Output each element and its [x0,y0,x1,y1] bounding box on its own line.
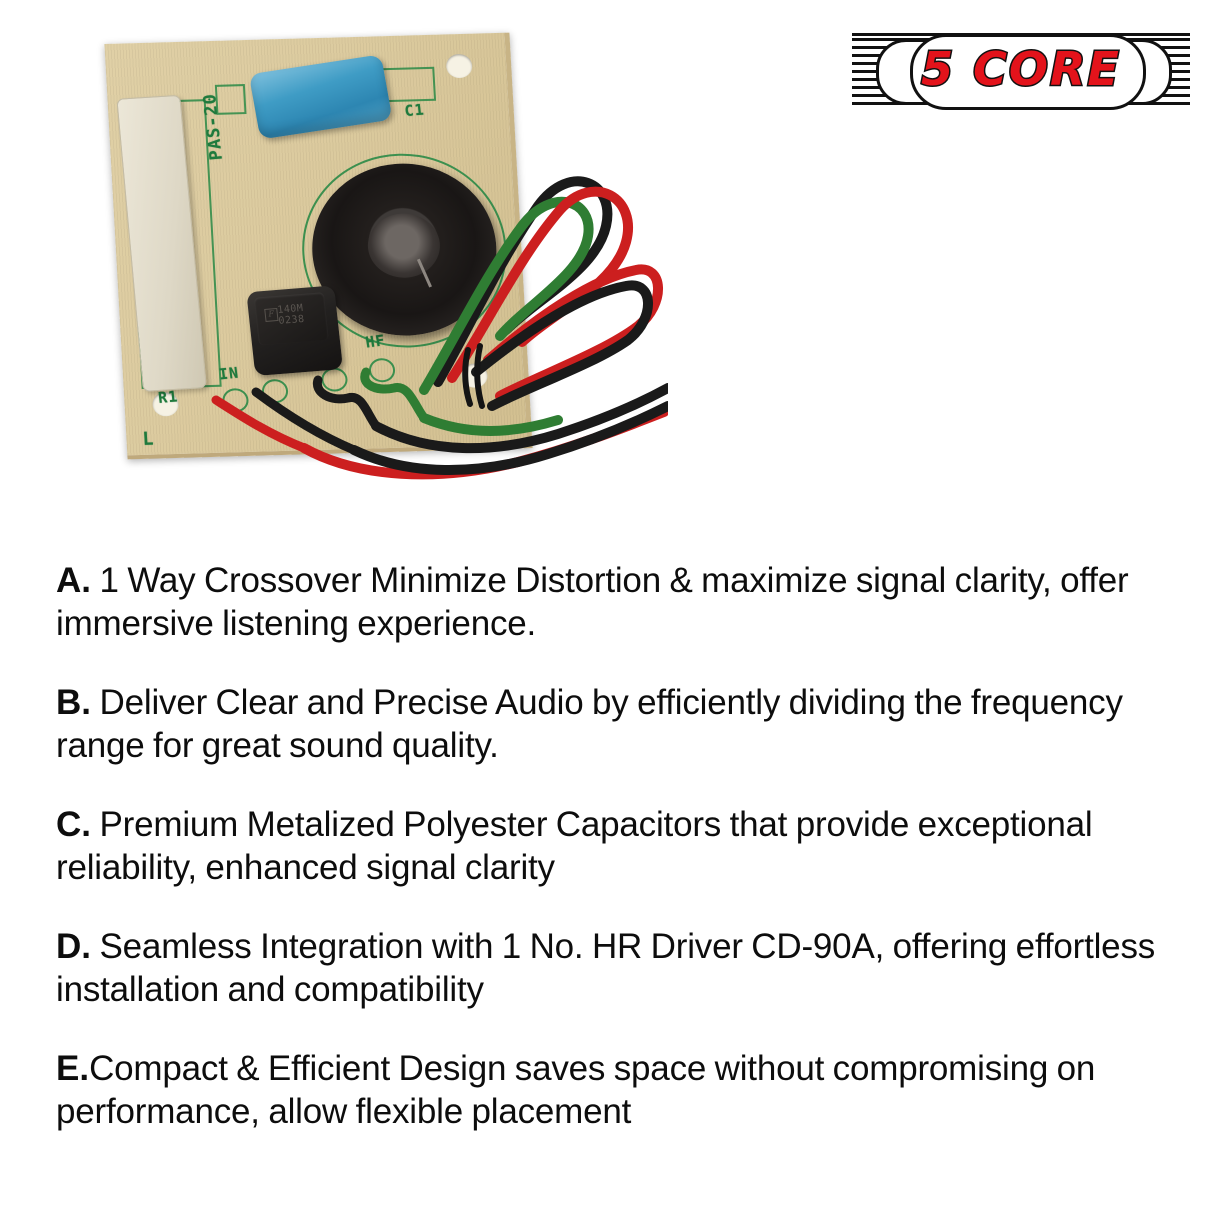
logo-wordmark: 5 CORE [852,33,1190,105]
wire-harness [108,30,668,490]
feature-letter-e: E. [56,1049,89,1088]
feature-text-e: Compact & Efficient Design saves space w… [56,1049,1095,1131]
logo-wordmark-text: 5 CORE [921,42,1121,96]
feature-letter-b: B. [56,683,91,722]
feature-text-a: 1 Way Crossover Minimize Distortion & ma… [56,561,1129,643]
feature-text-d: Seamless Integration with 1 No. HR Drive… [56,927,1155,1009]
brand-logo: 5 CORE [852,33,1190,105]
feature-item-c: C. Premium Metalized Polyester Capacitor… [56,803,1168,889]
product-hero-image: 5 CORE C1 PAS-20 R1 IN COM HF L [0,0,1214,505]
feature-item-b: B. Deliver Clear and Precise Audio by ef… [56,681,1168,767]
feature-text-b: Deliver Clear and Precise Audio by effic… [56,683,1123,765]
feature-item-d: D. Seamless Integration with 1 No. HR Dr… [56,925,1168,1011]
feature-letter-a: A. [56,561,91,600]
crossover-board-photo: C1 PAS-20 R1 IN COM HF L F 140M 0238 [108,30,668,490]
feature-item-e: E.Compact & Efficient Design saves space… [56,1047,1168,1133]
feature-text-c: Premium Metalized Polyester Capacitors t… [56,805,1093,887]
feature-letter-c: C. [56,805,91,844]
feature-letter-d: D. [56,927,91,966]
feature-list: A. 1 Way Crossover Minimize Distortion &… [56,524,1168,1133]
feature-item-a: A. 1 Way Crossover Minimize Distortion &… [56,559,1168,645]
